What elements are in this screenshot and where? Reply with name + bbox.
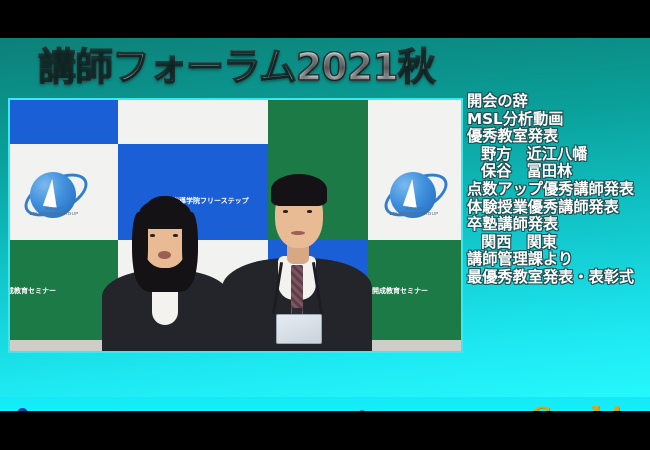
- presenter-mouth: [291, 231, 305, 235]
- presenter-hair: [271, 174, 327, 206]
- presenter-hair-side-left: [132, 212, 148, 284]
- letterbox-top: [0, 0, 650, 38]
- letterbox-bottom: [0, 411, 650, 450]
- presentation-slide: 講師フォーラム2021秋 開会の辞 MSL分析動画 優秀教室発表 野方 近江八幡…: [0, 38, 650, 411]
- agenda-item-0: 開会の辞: [467, 93, 650, 111]
- presenter-eye-right: [173, 234, 178, 237]
- backdrop-tile: 開成教育セミナー: [368, 240, 461, 340]
- agenda-item-5: 点数アップ優秀講師発表: [467, 181, 650, 199]
- presenter-eye-right: [307, 210, 312, 213]
- agenda-item-8: 関西 関東: [467, 234, 650, 252]
- backdrop-tile: KAISEI EDUCATION GROUP: [10, 144, 118, 240]
- backdrop-tile: [368, 100, 461, 144]
- agenda-item-1: MSL分析動画: [467, 111, 650, 129]
- kaisei-caption-line1: KAISEI: [406, 206, 423, 211]
- backdrop-tile: [118, 100, 268, 144]
- agenda-item-9: 講師管理課より: [467, 251, 650, 269]
- agenda-item-10: 最優秀教室発表・表彰式: [467, 269, 650, 287]
- agenda-item-3: 野方 近江八幡: [467, 146, 650, 164]
- backdrop-tile: [268, 100, 368, 144]
- kaisei-caption-line2: EDUCATION GROUP: [29, 211, 78, 216]
- presenter-eye-left: [283, 210, 288, 213]
- backdrop-tile: KAISEI EDUCATION GROUP: [368, 144, 461, 240]
- backdrop-banner-text: 開成教育セミナー: [10, 286, 56, 296]
- agenda-item-7: 卒塾講師発表: [467, 216, 650, 234]
- sophia-logo: フリーステップ 1対1 専門館 Sophia ソフィア ★ ★ [for 1]: [355, 403, 650, 411]
- agenda-item-4: 保谷 冨田林: [467, 163, 650, 181]
- presenter-eye-left: [150, 234, 155, 237]
- agenda-list: 開会の辞 MSL分析動画 優秀教室発表 野方 近江八幡 保谷 冨田林 点数アップ…: [467, 93, 650, 287]
- page-title: 講師フォーラム2021秋: [38, 44, 435, 90]
- presenter-mouth: [158, 251, 171, 259]
- brand-name-katakana: フリーステップ: [183, 403, 364, 411]
- kaisei-caption-line2: EDUCATION GROUP: [389, 211, 438, 216]
- video-feed[interactable]: KAISEI EDUCATION GROUP 個別指導学院フリーステップ KAI…: [8, 98, 463, 353]
- agenda-item-2: 優秀教室発表: [467, 128, 650, 146]
- backdrop-tile: [10, 100, 118, 144]
- presenter-hair-side-right: [182, 212, 198, 284]
- kaisei-caption-line1: KAISEI: [46, 206, 63, 211]
- sponsor-banner: 個別指導学院 フリーステップ ® フリーステップ 1対1 専門館 Sophia …: [0, 397, 650, 411]
- kaisei-logo-icon: KAISEI EDUCATION GROUP: [382, 168, 444, 230]
- agenda-item-6: 体験授業優秀講師発表: [467, 199, 650, 217]
- presenter-name-badge: [276, 314, 322, 344]
- backdrop-banner-text: 開成教育セミナー: [372, 286, 428, 296]
- screenshot-stage: 講師フォーラム2021秋 開会の辞 MSL分析動画 優秀教室発表 野方 近江八幡…: [0, 0, 650, 450]
- kaisei-logo-icon: KAISEI EDUCATION GROUP: [22, 168, 84, 230]
